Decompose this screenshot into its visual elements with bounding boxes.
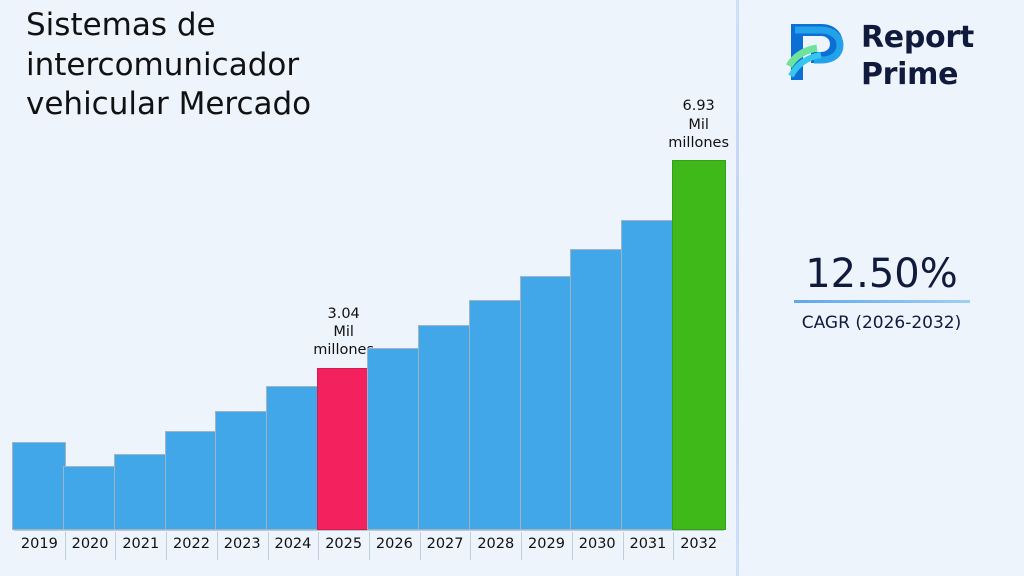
bar-2022 <box>165 431 219 530</box>
x-tick-separator <box>318 532 319 560</box>
brand-logo: Report Prime <box>781 14 1011 92</box>
x-tick-2026: 2026 <box>367 536 421 552</box>
bar-column-2021 <box>114 140 168 530</box>
bar-2024 <box>266 386 320 530</box>
bar-2031 <box>621 220 675 530</box>
x-tick-separator <box>65 532 66 560</box>
x-tick-separator <box>470 532 471 560</box>
bar-column-2020 <box>63 140 117 530</box>
bar-2019 <box>12 442 66 530</box>
bar-chart-plot-area: 3.04 Mil millones6.93 Mil millones <box>14 140 724 530</box>
x-tick-2021: 2021 <box>114 536 168 552</box>
report-prime-logo-icon <box>781 16 853 88</box>
bar-value-label-2025: 3.04 Mil millones <box>313 305 374 359</box>
x-tick-2022: 2022 <box>165 536 219 552</box>
page-title: Sistemas de intercomunicador vehicular M… <box>26 6 446 125</box>
bar-2028 <box>469 300 523 530</box>
x-tick-separator <box>217 532 218 560</box>
x-tick-separator <box>369 532 370 560</box>
x-tick-2019: 2019 <box>12 536 66 552</box>
bar-2020 <box>63 466 117 530</box>
x-tick-2029: 2029 <box>520 536 574 552</box>
x-axis-line <box>14 530 724 531</box>
bar-2029 <box>520 276 574 530</box>
x-tick-2028: 2028 <box>469 536 523 552</box>
bar-column-2024 <box>266 140 320 530</box>
bar-column-2032: 6.93 Mil millones <box>672 140 726 530</box>
x-tick-2023: 2023 <box>215 536 269 552</box>
chart-panel: Sistemas de intercomunicador vehicular M… <box>0 0 736 576</box>
x-tick-separator <box>115 532 116 560</box>
cagr-block: 12.50% CAGR (2026-2032) <box>739 252 1024 333</box>
bar-2030 <box>570 249 624 530</box>
bar-column-2029 <box>520 140 574 530</box>
bar-2023 <box>215 411 269 530</box>
x-tick-2027: 2027 <box>418 536 472 552</box>
bar-column-2027 <box>418 140 472 530</box>
brand-name: Report Prime <box>861 20 974 93</box>
x-tick-2025: 2025 <box>317 536 371 552</box>
x-tick-2031: 2031 <box>621 536 675 552</box>
x-tick-2024: 2024 <box>266 536 320 552</box>
x-tick-2032: 2032 <box>672 536 726 552</box>
bar-column-2022 <box>165 140 219 530</box>
bar-column-2019 <box>12 140 66 530</box>
bar-column-2028 <box>469 140 523 530</box>
x-axis-tick-labels: 2019202020212022202320242025202620272028… <box>14 532 724 562</box>
x-tick-separator <box>420 532 421 560</box>
chart-page: Sistemas de intercomunicador vehicular M… <box>0 0 1024 576</box>
bar-2027 <box>418 325 472 530</box>
brand-name-line1: Report <box>861 20 974 57</box>
bar-column-2023 <box>215 140 269 530</box>
cagr-value: 12.50% <box>739 252 1024 296</box>
x-tick-separator <box>521 532 522 560</box>
x-tick-separator <box>623 532 624 560</box>
x-tick-separator <box>268 532 269 560</box>
cagr-caption: CAGR (2026-2032) <box>739 313 1024 333</box>
x-tick-2030: 2030 <box>570 536 624 552</box>
x-tick-separator <box>572 532 573 560</box>
x-tick-separator <box>673 532 674 560</box>
cagr-underline <box>794 300 970 303</box>
x-tick-2020: 2020 <box>63 536 117 552</box>
bar-column-2025: 3.04 Mil millones <box>317 140 371 530</box>
x-tick-separator <box>166 532 167 560</box>
bar-column-2030 <box>570 140 624 530</box>
bar-2026 <box>367 348 421 530</box>
info-panel: Report Prime 12.50% CAGR (2026-2032) <box>739 0 1024 576</box>
bar-2021 <box>114 454 168 530</box>
bar-column-2026 <box>367 140 421 530</box>
bar-column-2031 <box>621 140 675 530</box>
brand-name-line2: Prime <box>861 57 974 94</box>
bar-value-label-2032: 6.93 Mil millones <box>668 97 729 151</box>
bar-2032 <box>672 160 726 530</box>
bar-2025 <box>317 368 371 530</box>
